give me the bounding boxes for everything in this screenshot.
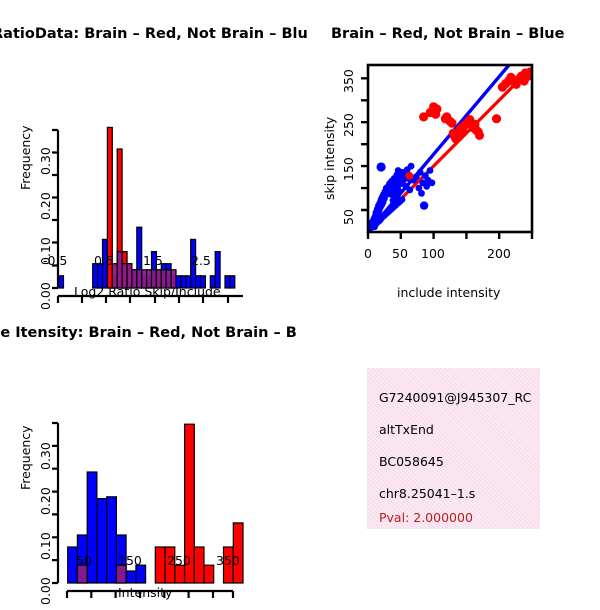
tr-xtick-0: 0 bbox=[364, 246, 372, 261]
tr-xtick-100: 100 bbox=[421, 246, 445, 261]
tl-xaxis-label: Log2 Ratio Skip/Include bbox=[74, 284, 221, 299]
tl-xtick-0: -0.5 bbox=[43, 253, 67, 268]
tl-xtick-6: 2.5 bbox=[191, 253, 211, 268]
gene-annotation-box: G7240091@J945307_RC altTxEnd BC058645 ch… bbox=[367, 368, 540, 529]
scatter-points-not-brain bbox=[367, 162, 436, 232]
panel-log2-ratio-histogram: RatioData: Brain – Red, Not Brain – Blu bbox=[0, 0, 300, 310]
bl-ytick-2: 0.10 bbox=[38, 532, 53, 560]
tl-ytick-4: 0.20 bbox=[38, 192, 53, 220]
tl-xtick-2: 0.5 bbox=[94, 253, 114, 268]
bl-ytick-0: 0.00 bbox=[38, 577, 53, 605]
bl-ytick-4: 0.20 bbox=[38, 487, 53, 515]
tl-yaxis-label: Frequency bbox=[18, 125, 33, 190]
tr-ytick-350: 350 bbox=[341, 69, 356, 93]
bl-xtick-350: 350 bbox=[216, 553, 240, 568]
tr-yaxis-label: skip intensity bbox=[322, 117, 337, 200]
bl-xtick-250: 250 bbox=[167, 553, 191, 568]
tr-xtick-200: 200 bbox=[487, 246, 511, 261]
annotation-line-gene-id: G7240091@J945307_RC bbox=[379, 390, 531, 405]
bl-xaxis-label: Intensity bbox=[118, 585, 172, 600]
bl-yaxis-label: Frequency bbox=[18, 425, 33, 490]
tr-xaxis-label: include intensity bbox=[397, 285, 500, 300]
bottom-left-title: ne Itensity: Brain – Red, Not Brain – B bbox=[0, 325, 297, 341]
annotation-line-event-type: altTxEnd bbox=[379, 422, 434, 437]
tr-ytick-250: 250 bbox=[341, 113, 356, 137]
annotation-line-locus: chr8.25041–1.s bbox=[379, 486, 475, 501]
tr-ytick-150: 150 bbox=[341, 157, 356, 181]
gene-intensity-histogram-svg bbox=[0, 360, 300, 610]
tr-ytick-50: 50 bbox=[341, 209, 356, 225]
bl-ytick-6: 0.30 bbox=[38, 442, 53, 470]
annotation-line-pval: Pval: 2.000000 bbox=[379, 510, 473, 525]
top-right-title: Brain – Red, Not Brain – Blue bbox=[331, 26, 564, 42]
tr-xtick-50: 50 bbox=[392, 246, 408, 261]
annotation-line-accession: BC058645 bbox=[379, 454, 444, 469]
top-left-title: RatioData: Brain – Red, Not Brain – Blu bbox=[0, 26, 308, 42]
tl-ytick-6: 0.30 bbox=[38, 147, 53, 175]
log2-ratio-histogram-svg bbox=[0, 60, 300, 310]
bl-xtick-50: 50 bbox=[76, 553, 92, 568]
panel-gene-intensity-histogram: ne Itensity: Brain – Red, Not Brain – B bbox=[0, 305, 300, 600]
panel-intensity-scatter: Brain – Red, Not Brain – Blue bbox=[300, 0, 600, 310]
tl-xtick-4: 1.5 bbox=[143, 253, 163, 268]
bl-xtick-150: 150 bbox=[118, 553, 142, 568]
